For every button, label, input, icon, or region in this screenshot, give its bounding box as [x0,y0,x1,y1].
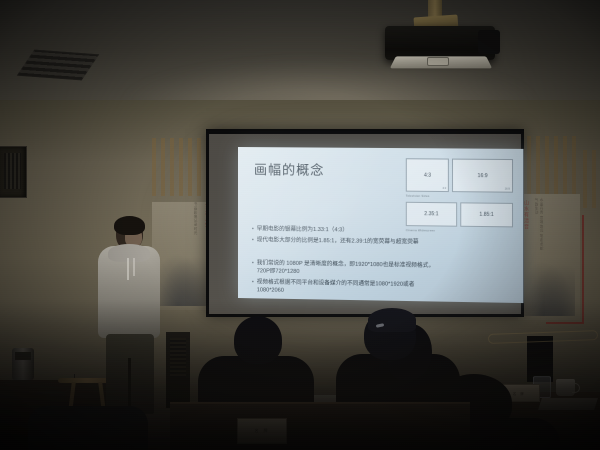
panel-slats [518,136,580,194]
list-item: • 视频格式根据不同平台和设备媒介的不同通常是1080*1920或者 1080*… [252,278,434,297]
panel-slats [152,138,214,196]
lecture-room-photo: 艺术人生 书画影像记录时光 山水有清音 水墨丹青 意境悠远 笔走龙蛇 气韵生动 … [0,0,600,450]
slide-bullet-group-1: • 早期电影的银幕比例为1.33:1（4:3） • 现代电影大部分的比例是1.8… [252,225,419,249]
ratio-caption-cinema: Cinema Widescreen [406,228,513,233]
aspect-ratio-diagram: 4:3 4:3 16:9 16:9 Television Sizes 2.35:… [406,158,513,237]
ratio-corner-label: 16:9 [505,188,510,191]
slide-title: 画幅的概念 [254,159,324,179]
panel-slats [583,150,600,208]
slide-bullet-group-2: • 我们常说的 1080P 是清晰度的概念，即1920*1080也是标准视频格式… [252,259,434,300]
bullet-text-sub: 1080*2060 [257,286,434,297]
ratio-label: 16:9 [478,173,488,179]
bullet-text: 视频格式根据不同平台和设备媒介的不同通常是1080*1920或者 1080*20… [257,278,434,297]
ratio-box-16-9: 16:9 16:9 [452,159,513,193]
bullet-dot-icon: • [252,259,254,275]
panel-body-text: 书画影像记录时光 [193,202,198,242]
panel-body-text: 水墨丹青 意境悠远 笔走龙蛇 气韵生动 [534,198,544,254]
bullet-text: 我们常说的 1080P 是清晰度的概念，即1920*1080也是标准视频格式， … [257,259,434,278]
ratio-corner-label: 4:3 [442,187,446,190]
wall-speaker-icon [0,146,27,198]
ratio-label: 2.35:1 [424,211,438,217]
presenter-hood [108,244,150,262]
presenter-hair [114,216,145,235]
list-item: • 现代电影大部分的比例是1.85:1，还有2.39:1的宽荧幕与超宽荧幕 [252,236,419,246]
bullet-text: 现代电影大部分的比例是1.85:1，还有2.39:1的宽荧幕与超宽荧幕 [257,236,419,246]
ratio-box-2-35-1: 2.35:1 [406,202,457,227]
projected-slide: 画幅的概念 4:3 4:3 16:9 16:9 Television Sizes… [238,147,523,303]
hoodie-drawstring [127,258,129,280]
ratio-box-1-85-1: 1.85:1 [460,202,513,227]
ratio-label: 4:3 [424,172,431,178]
bullet-dot-icon: • [252,236,254,244]
ratio-label: 1.85:1 [479,212,493,218]
projector-lens-icon [427,57,449,66]
ratio-row-cinema: 2.35:1 1.85:1 [406,202,513,228]
ratio-row-television: 4:3 4:3 16:9 16:9 [406,158,513,192]
hoodie-drawstring [133,258,135,276]
bullet-text: 早期电影的银幕比例为1.33:1（4:3） [257,225,419,235]
bullet-dot-icon: • [252,225,254,233]
list-item: • 早期电影的银幕比例为1.33:1（4:3） [252,225,419,235]
lower-shadow [0,300,600,450]
wall-panel-far-right [583,150,600,310]
ratio-box-4-3: 4:3 4:3 [406,158,449,192]
bullet-dot-icon: • [252,278,254,294]
ratio-caption-television: Television Sizes [406,194,513,199]
projector-side-block [478,30,500,54]
bullet-text-sub: 720P即720*1280 [257,267,434,278]
wall-panel-right: 山水有清音 水墨丹青 意境悠远 笔走龙蛇 气韵生动 [518,136,580,320]
list-item: • 我们常说的 1080P 是清晰度的概念，即1920*1080也是标准视频格式… [252,259,434,278]
